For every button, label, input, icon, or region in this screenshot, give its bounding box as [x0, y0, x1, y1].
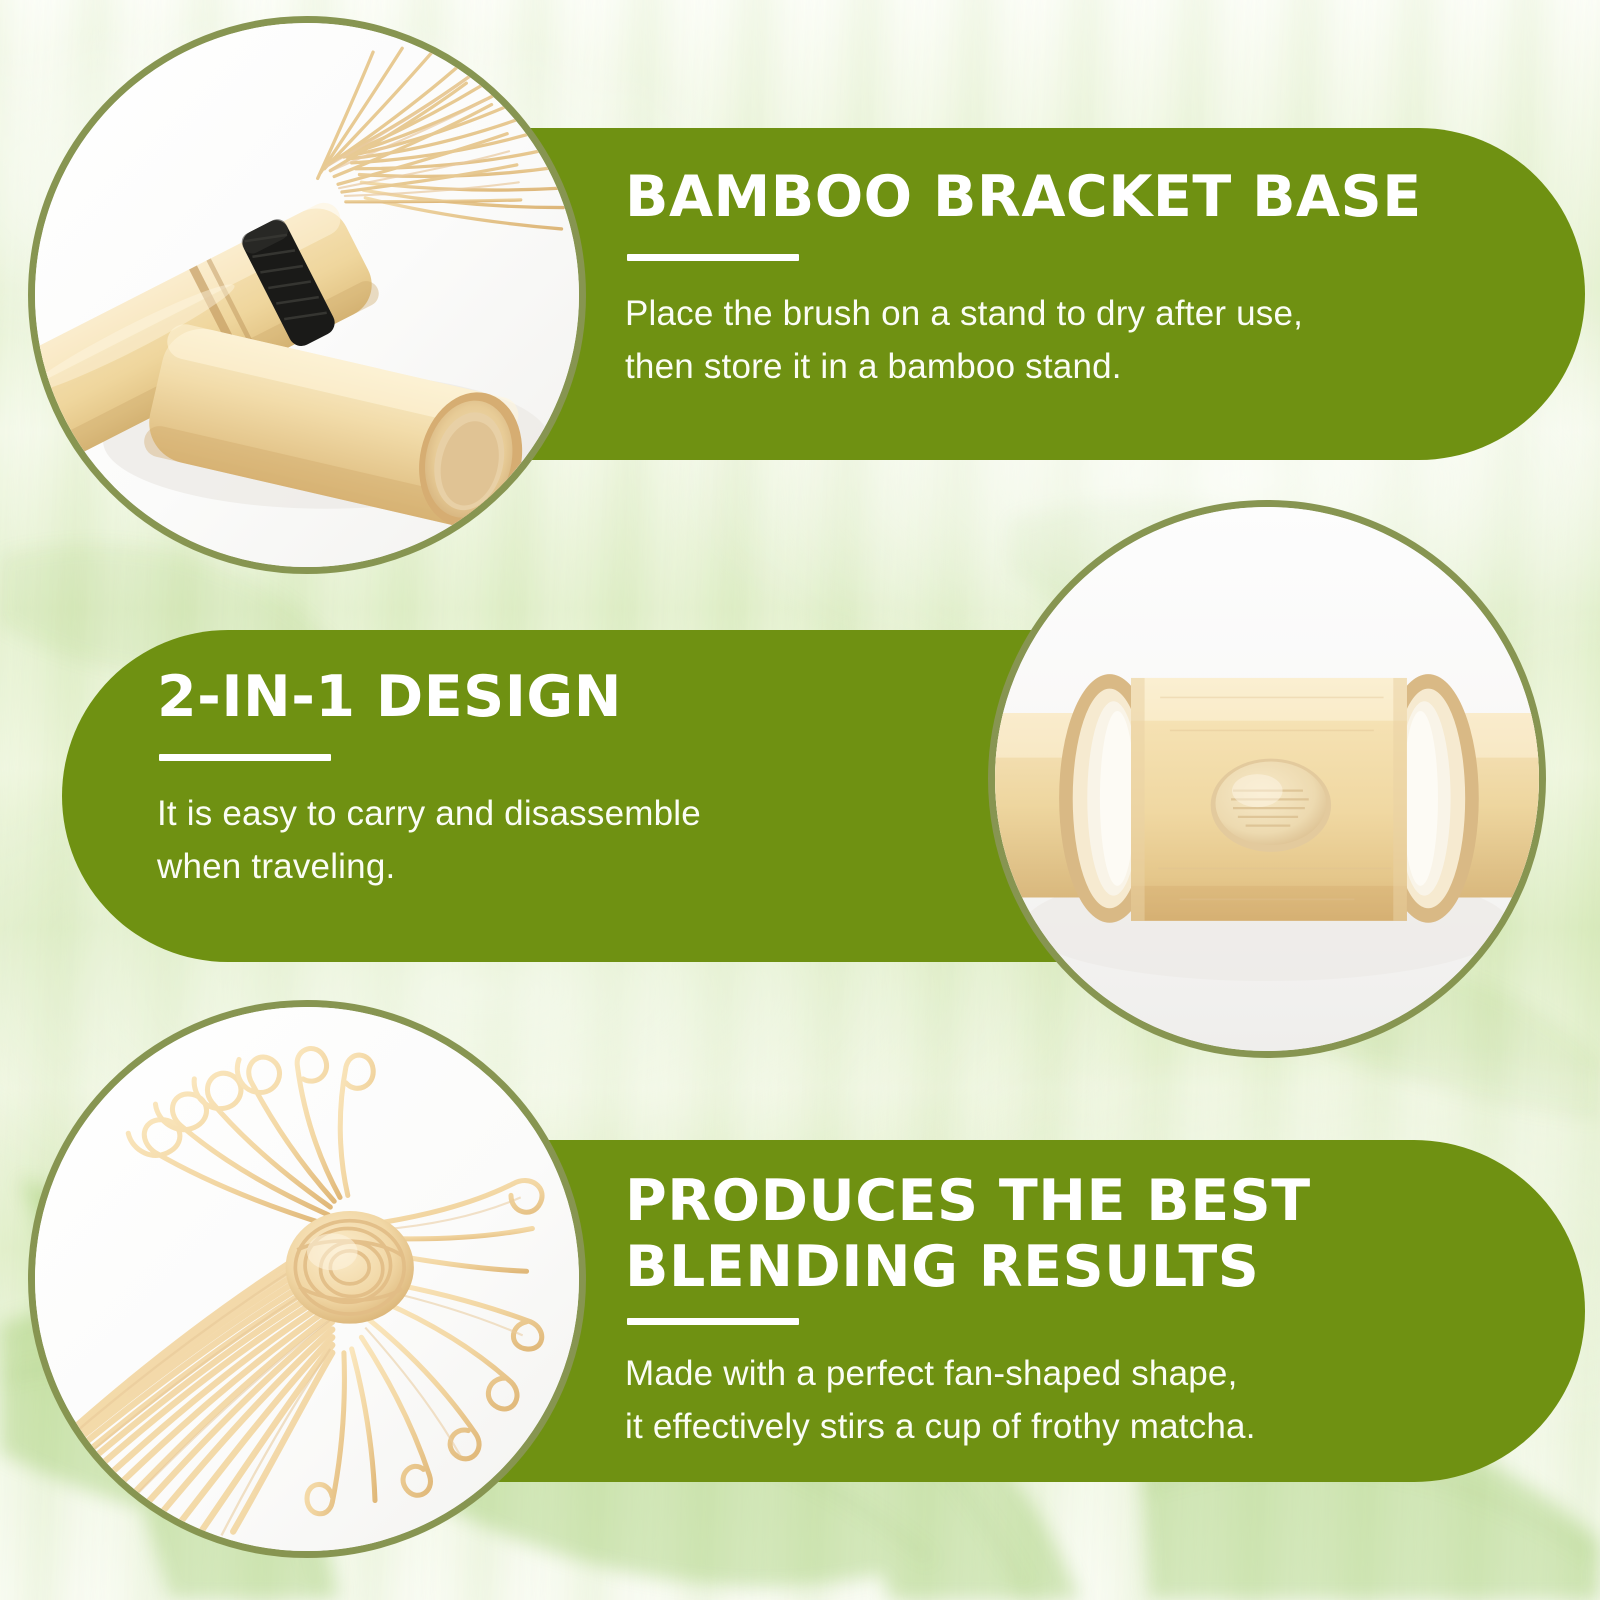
feature-title: PRODUCES THE BEST BLENDING RESULTS: [625, 1168, 1465, 1300]
title-divider-rule: [159, 754, 331, 761]
feature-description: Made with a perfect fan-shaped shape, it…: [625, 1347, 1465, 1453]
feature-title: BAMBOO BRACKET BASE: [625, 164, 1465, 230]
title-divider-rule: [627, 1318, 799, 1325]
title-divider-rule: [627, 254, 799, 261]
feature-photo-bamboo-tube-stand: [988, 500, 1546, 1058]
feature-photo-bamboo-whisk-on-stand: [28, 16, 586, 574]
feature-description: Place the brush on a stand to dry after …: [625, 287, 1465, 393]
feature-photo-whisk-tines-closeup: [28, 1000, 586, 1558]
infographic-canvas: BAMBOO BRACKET BASE Place the brush on a…: [0, 0, 1600, 1600]
feature-description: It is easy to carry and disassemble when…: [157, 787, 912, 893]
feature-title: 2-IN-1 DESIGN: [157, 664, 912, 730]
